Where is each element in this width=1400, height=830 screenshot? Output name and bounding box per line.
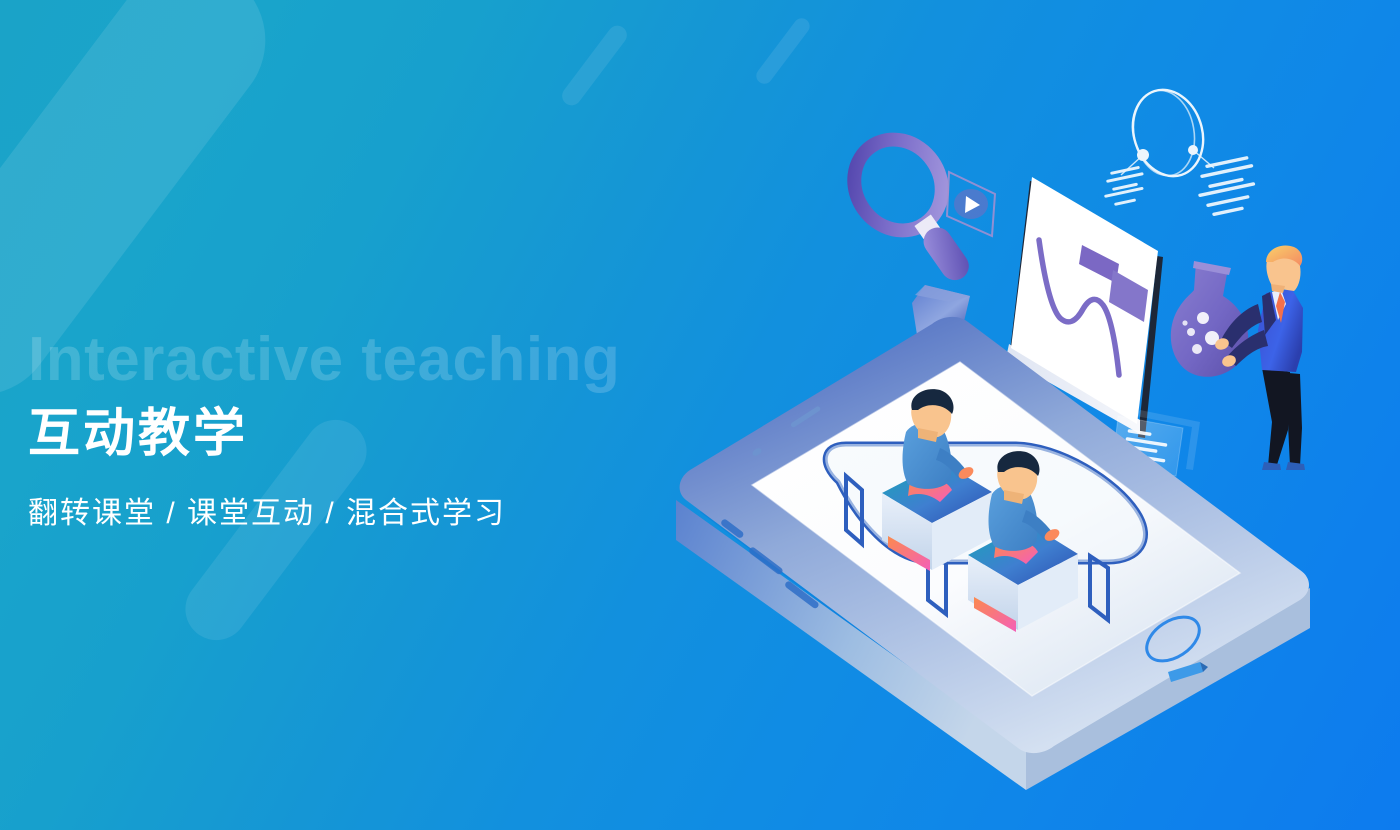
atom-orbit-icon <box>1104 81 1255 217</box>
hero-banner: Interactive teaching 互动教学 翻转课堂 / 课堂互动 / … <box>0 0 1400 830</box>
page-subtitle: 翻转课堂 / 课堂互动 / 混合式学习 <box>28 496 506 532</box>
video-play-icon <box>947 172 995 236</box>
page-title: 互动教学 <box>28 408 248 460</box>
ghost-title: Interactive teaching <box>28 329 620 391</box>
tablet-device <box>676 317 1310 790</box>
